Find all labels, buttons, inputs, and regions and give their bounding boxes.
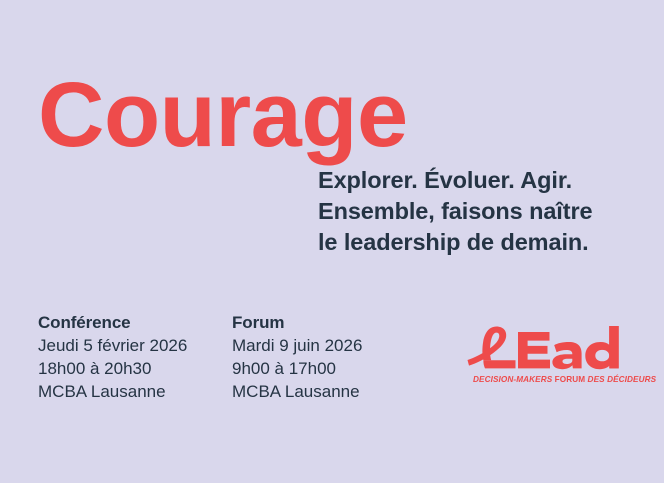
event-title: Forum [232, 311, 362, 334]
event-date: Mardi 9 juin 2026 [232, 334, 362, 357]
page-title: Courage [38, 69, 408, 161]
event-time: 9h00 à 17h00 [232, 357, 362, 380]
event-venue: MCBA Lausanne [232, 380, 362, 403]
subtitle-line-1: Explorer. Évoluer. Agir. [318, 165, 648, 196]
lead-logo: DECISION-MAKERS FORUM DES DÉCIDEURS [466, 322, 638, 394]
event-title: Conférence [38, 311, 187, 334]
subtitle-line-2: Ensemble, faisons naître [318, 196, 648, 227]
lead-logo-tagline: DECISION-MAKERS FORUM DES DÉCIDEURS [473, 375, 638, 384]
event-block-conference: Conférence Jeudi 5 février 2026 18h00 à … [38, 311, 187, 403]
tagline-left: DECISION-MAKERS [473, 375, 555, 384]
poster-subtitle: Explorer. Évoluer. Agir. Ensemble, faiso… [318, 165, 648, 258]
tagline-right: DES DÉCIDEURS [585, 375, 656, 384]
event-block-forum: Forum Mardi 9 juin 2026 9h00 à 17h00 MCB… [232, 311, 362, 403]
event-poster: Courage Explorer. Évoluer. Agir. Ensembl… [0, 0, 664, 483]
event-time: 18h00 à 20h30 [38, 357, 187, 380]
event-venue: MCBA Lausanne [38, 380, 187, 403]
subtitle-line-3: le leadership de demain. [318, 227, 648, 258]
tagline-bold: FORUM [555, 375, 586, 384]
lead-wordmark-icon [466, 322, 638, 374]
event-date: Jeudi 5 février 2026 [38, 334, 187, 357]
